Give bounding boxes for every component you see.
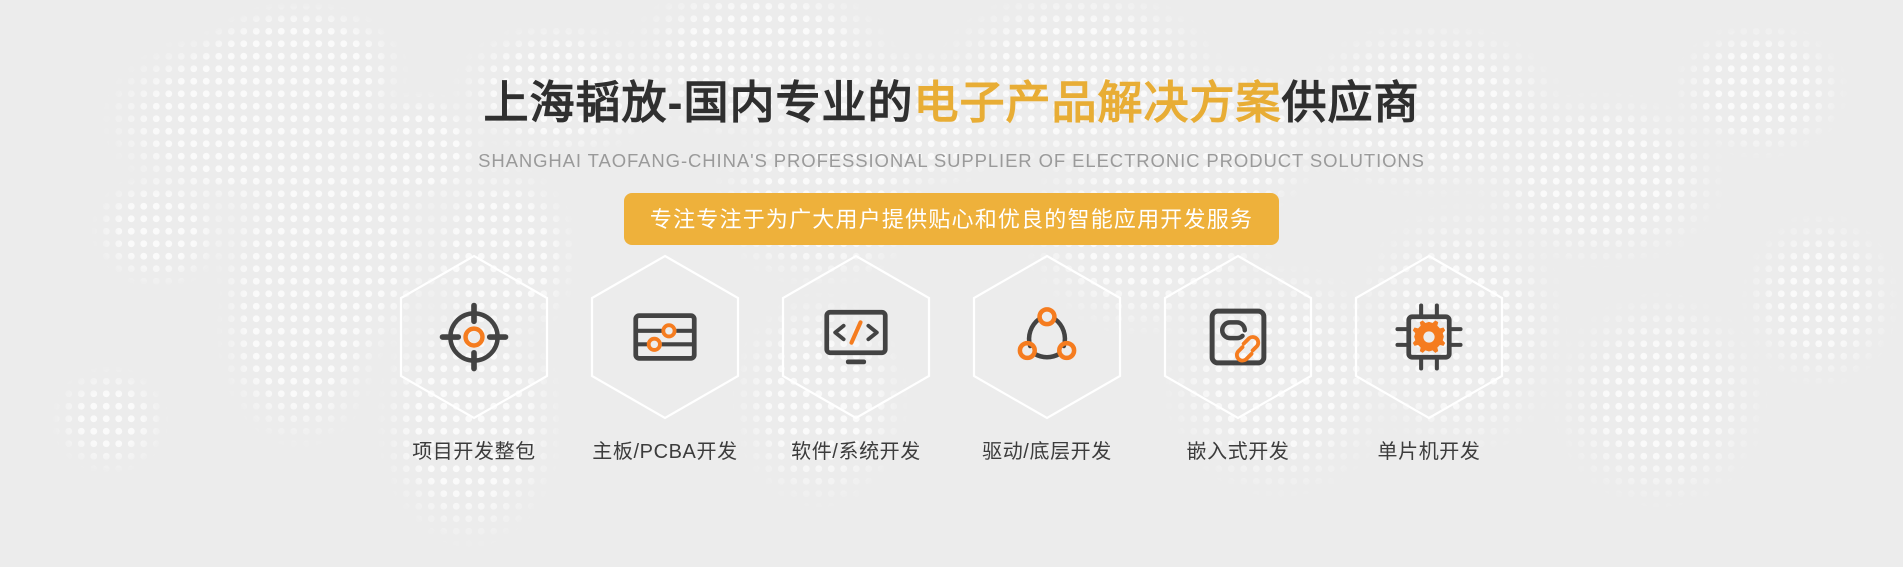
headline-lead: 上海韬放-国内专业的 <box>483 77 913 128</box>
tagline-badge: 专注专注于为广大用户提供贴心和优良的智能应用开发服务 <box>624 193 1279 245</box>
service-item-embedded[interactable]: 嵌入式开发 <box>1156 253 1321 464</box>
hero-banner: 上海韬放-国内专业的电子产品解决方案供应商 SHANGHAI TAOFANG-C… <box>0 0 1903 567</box>
service-item-mcu[interactable]: 单片机开发 <box>1347 253 1512 464</box>
service-item-project-package[interactable]: 项目开发整包 <box>392 253 557 464</box>
headline-tail: 供应商 <box>1282 77 1420 128</box>
pcb-board-icon <box>629 301 701 373</box>
hexagon-frame-3 <box>780 253 932 421</box>
crosshair-target-icon <box>438 301 510 373</box>
hexagon-frame-5 <box>1162 253 1314 421</box>
service-label: 软件/系统开发 <box>791 435 921 464</box>
tagline-badge-wrapper: 专注专注于为广大用户提供贴心和优良的智能应用开发服务 <box>0 193 1903 245</box>
hexagon-frame-6 <box>1353 253 1505 421</box>
service-label: 单片机开发 <box>1378 435 1481 464</box>
page-title: 上海韬放-国内专业的电子产品解决方案供应商 <box>0 78 1903 128</box>
service-label: 驱动/底层开发 <box>982 435 1112 464</box>
service-label: 嵌入式开发 <box>1187 435 1290 464</box>
headline-accent: 电子产品解决方案 <box>913 77 1281 128</box>
embedded-chip-link-icon <box>1202 301 1274 373</box>
monitor-code-icon <box>820 301 892 373</box>
microchip-gear-icon <box>1393 301 1465 373</box>
page-subtitle: SHANGHAI TAOFANG-CHINA'S PROFESSIONAL SU… <box>0 150 1903 172</box>
service-item-pcba[interactable]: 主板/PCBA开发 <box>583 253 748 464</box>
hexagon-frame-1 <box>398 253 550 421</box>
service-item-software[interactable]: 软件/系统开发 <box>774 253 939 464</box>
node-network-icon <box>1011 301 1083 373</box>
service-list: 项目开发整包 <box>0 253 1903 464</box>
hexagon-frame-2 <box>589 253 741 421</box>
banner-content: 上海韬放-国内专业的电子产品解决方案供应商 SHANGHAI TAOFANG-C… <box>0 0 1903 567</box>
service-label: 主板/PCBA开发 <box>592 435 737 464</box>
hexagon-frame-4 <box>971 253 1123 421</box>
service-label: 项目开发整包 <box>412 435 536 464</box>
service-item-driver[interactable]: 驱动/底层开发 <box>965 253 1130 464</box>
